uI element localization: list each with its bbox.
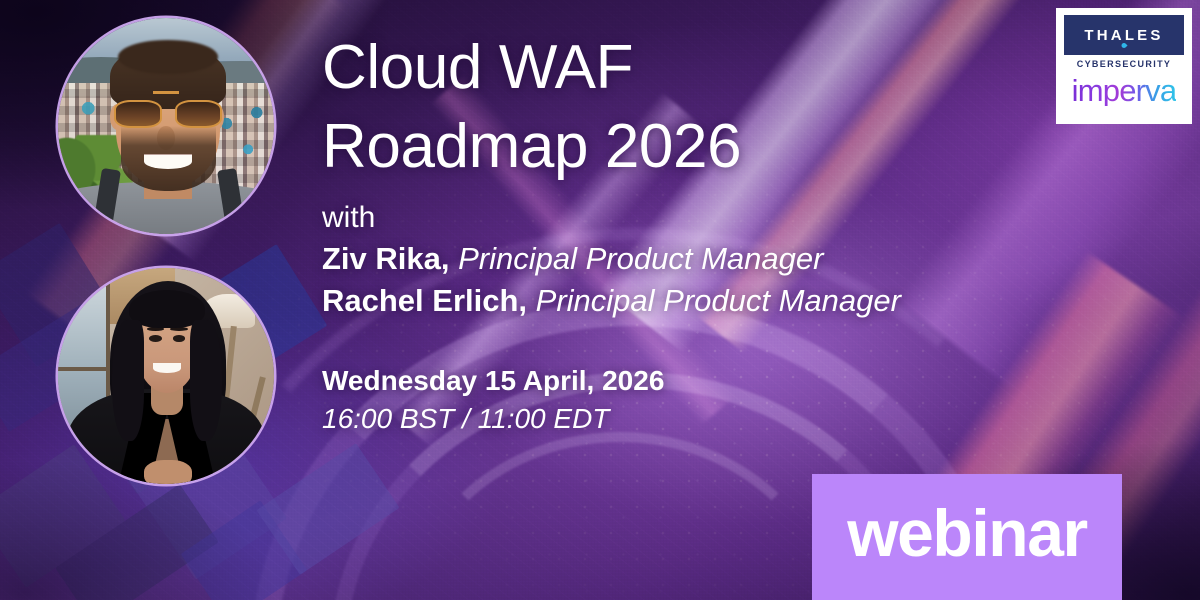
photo-window-frame [58, 367, 110, 371]
speaker-rachel: Rachel Erlich, Principal Product Manager [322, 280, 1022, 322]
webinar-badge: webinar [812, 474, 1122, 600]
sunglasses-bridge [153, 91, 179, 94]
photo-eye [149, 335, 162, 342]
with-label: with [322, 198, 1022, 238]
webinar-promo-banner: Cloud WAF Roadmap 2026 with Ziv Rika, Pr… [0, 0, 1200, 600]
avatar-rachel-erlich [58, 268, 274, 484]
speaker-role: Principal Product Manager [458, 241, 823, 276]
thales-wordmark: THALES [1084, 28, 1163, 43]
webinar-datetime: Wednesday 15 April, 2026 16:00 BST / 11:… [322, 362, 1022, 438]
webinar-date: Wednesday 15 April, 2026 [322, 362, 1022, 400]
photo-hair-side [190, 320, 222, 441]
thales-tagline: CYBERSECURITY [1077, 60, 1172, 69]
imperva-wordmark: imperva [1072, 75, 1177, 106]
sunglasses-lens-left [114, 100, 162, 128]
title-line-1: Cloud WAF [322, 28, 1022, 107]
page-title: Cloud WAF Roadmap 2026 [322, 28, 1022, 186]
photo-hair-top [118, 40, 217, 75]
speaker-role: Principal Product Manager [536, 283, 901, 318]
speaker-name: Rachel Erlich, [322, 283, 527, 318]
photo-smile [153, 363, 181, 373]
title-line-2: Roadmap 2026 [322, 107, 1022, 186]
sunglasses-lens-right [175, 100, 223, 128]
avatar-photo-rachel [58, 268, 274, 484]
photo-eye [173, 335, 186, 342]
webinar-time: 16:00 BST / 11:00 EDT [322, 400, 1022, 438]
webinar-copy: Cloud WAF Roadmap 2026 with Ziv Rika, Pr… [322, 0, 1022, 438]
webinar-badge-label: webinar [847, 500, 1087, 566]
thales-logo: THALES [1064, 15, 1184, 55]
brand-logo-card: THALES CYBERSECURITY imperva [1056, 8, 1192, 124]
speaker-ziv: Ziv Rika, Principal Product Manager [322, 238, 1022, 280]
photo-hair-side [112, 320, 144, 441]
avatar-ziv-rika [58, 18, 274, 234]
speaker-name: Ziv Rika, [322, 241, 450, 276]
sunglasses-icon [114, 100, 222, 128]
avatar-photo-ziv [58, 18, 274, 234]
photo-hands [144, 460, 192, 484]
